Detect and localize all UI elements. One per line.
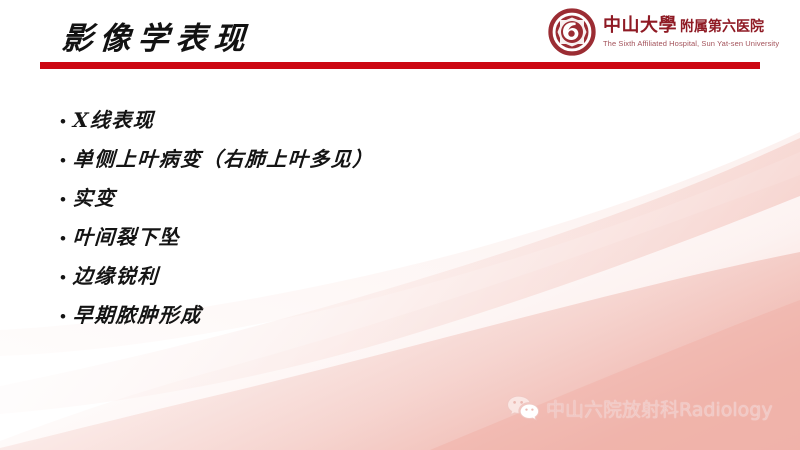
bullet-marker-icon: •	[60, 269, 73, 286]
bullet-marker-icon: •	[60, 230, 73, 247]
list-item-label: 单侧上叶病变（右肺上叶多见）	[72, 143, 375, 172]
list-item-label: 边缘锐利	[72, 260, 160, 289]
list-item-label: 实变	[72, 182, 117, 211]
wechat-icon	[506, 394, 540, 422]
content-bullet-list: • X线表现 • 单侧上叶病变（右肺上叶多见） • 实变 • 叶间裂下坠 • 边…	[60, 104, 720, 338]
sun-yat-sen-university-seal-icon	[548, 8, 596, 56]
list-item: • 边缘锐利	[60, 260, 720, 299]
list-item-label: 早期脓肿形成	[72, 299, 203, 328]
bullet-marker-icon: •	[60, 113, 73, 130]
list-item-label: X线表现	[72, 104, 155, 133]
list-item: • 早期脓肿形成	[60, 299, 720, 338]
university-name-cn: 中山大學	[603, 17, 677, 35]
title-divider-rule	[40, 62, 760, 69]
page-title: 影像学表现	[60, 13, 253, 58]
bullet-marker-icon: •	[60, 308, 73, 325]
wechat-watermark: 中山六院放射科Radiology	[506, 394, 773, 422]
list-item: • X线表现	[60, 104, 720, 143]
watermark-label: 中山六院放射科Radiology	[546, 395, 773, 422]
list-item: • 实变	[60, 182, 720, 221]
list-item-label: 叶间裂下坠	[72, 221, 181, 250]
list-item: • 单侧上叶病变（右肺上叶多见）	[60, 143, 720, 182]
bullet-marker-icon: •	[60, 152, 73, 169]
hospital-logo: 中山大學 附属第六医院 The Sixth Affiliated Hospita…	[548, 8, 779, 56]
bullet-marker-icon: •	[60, 191, 73, 208]
hospital-name-chinese: 中山大學 附属第六医院	[603, 17, 779, 35]
list-item: • 叶间裂下坠	[60, 221, 720, 260]
presentation-slide: 影像学表现 中山大學	[0, 0, 800, 450]
hospital-logo-text: 中山大學 附属第六医院 The Sixth Affiliated Hospita…	[603, 17, 779, 48]
hospital-name-english: The Sixth Affiliated Hospital, Sun Yat-s…	[603, 40, 779, 48]
hospital-name-cn: 附属第六医院	[680, 20, 764, 34]
